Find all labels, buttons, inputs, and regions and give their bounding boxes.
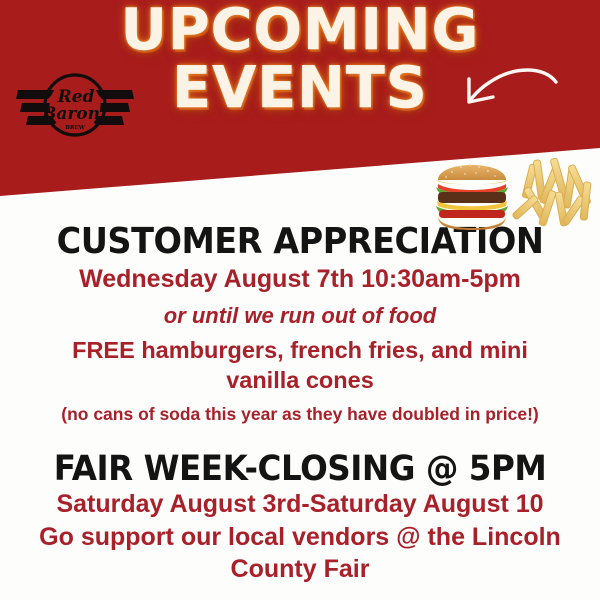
curved-arrow-down-left-icon <box>452 62 562 120</box>
event-line-vanilla-cones: vanilla cones <box>20 366 580 396</box>
logo-script-baron: Baron <box>41 104 100 124</box>
title-line-upcoming: UPCOMING <box>110 4 490 58</box>
hamburger-and-fries-photo <box>418 146 600 234</box>
event-line-date-customer: Wednesday August 7th 10:30am-5pm <box>20 264 580 296</box>
event-line-disclaimer: or until we run out of food <box>20 302 580 330</box>
title-line-events: EVENTS <box>110 62 490 116</box>
event-heading-fair-week: FAIR WEEK-CLOSING @ 5PM <box>21 451 579 487</box>
events-body: CUSTOMER APPRECIATION Wednesday August 7… <box>0 205 600 586</box>
free-keyword: FREE <box>72 337 135 363</box>
poster-canvas: Red Baron BREW UPCOMING EVENTS <box>0 0 600 600</box>
event-line-free-items: FREE hamburgers, french fries, and mini <box>20 336 580 366</box>
free-items-rest: hamburgers, french fries, and mini <box>135 337 528 363</box>
event-line-soda-note: (no cans of soda this year as they have … <box>20 403 580 425</box>
event-line-county-fair: County Fair <box>20 554 580 586</box>
logo-sub-text: BREW <box>65 125 85 131</box>
event-line-vendors: Go support our local vendors @ the Linco… <box>20 522 580 554</box>
event-line-date-fair: Saturday August 3rd-Saturday August 10 <box>20 489 580 521</box>
poster-title: UPCOMING EVENTS <box>110 4 490 115</box>
